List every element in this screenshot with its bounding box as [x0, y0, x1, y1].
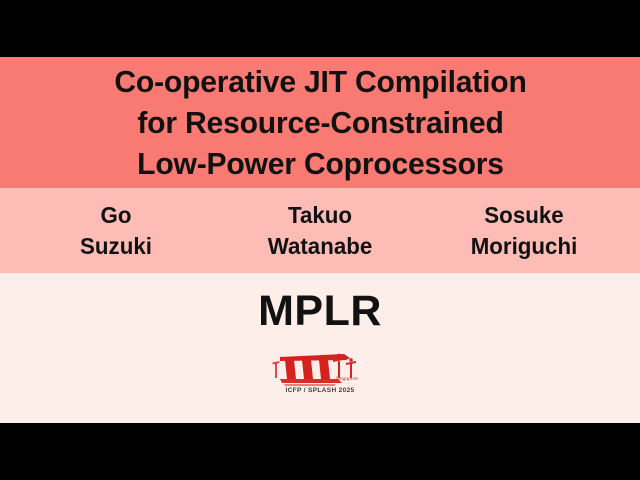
author-name-1: Go Suzuki — [17, 200, 215, 261]
letterbox-bar-top — [0, 0, 640, 57]
venue-acronym: MPLR — [258, 290, 382, 333]
presentation-title-slide: Co-operative JIT Compilation for Resourc… — [0, 0, 640, 480]
logo-caption: ICFP / SPLASH 2025 — [272, 387, 368, 394]
venue-band: MPLR — [0, 273, 640, 423]
conference-logo: Singapore ICFP / SPLASH 2025 — [272, 345, 368, 393]
marina-bay-sands-icon — [272, 345, 368, 393]
letterbox-bar-bottom — [0, 423, 640, 480]
author-name-3: Sosuke Moriguchi — [425, 200, 623, 261]
page-title: Co-operative JIT Compilation for Resourc… — [104, 61, 536, 185]
title-band: Co-operative JIT Compilation for Resourc… — [0, 57, 640, 188]
logo-city-label: Singapore — [336, 376, 358, 382]
authors-band: Go Suzuki Takuo Watanabe Sosuke Moriguch… — [0, 188, 640, 273]
author-name-2: Takuo Watanabe — [221, 200, 419, 261]
